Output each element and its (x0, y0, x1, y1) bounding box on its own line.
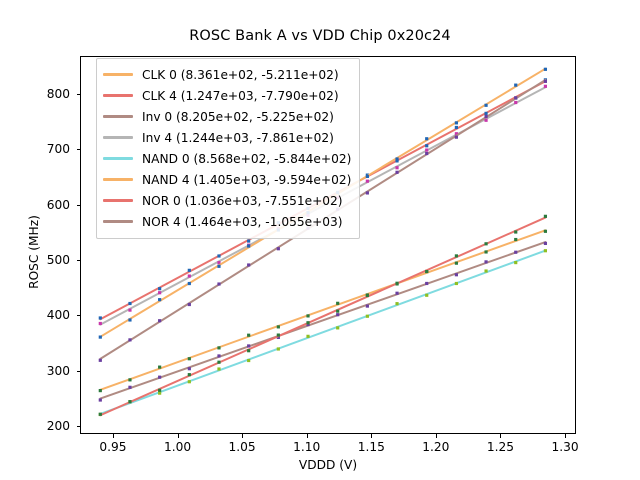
data-point (484, 260, 487, 263)
legend-color-swatch (103, 157, 133, 159)
legend-item: Inv 0 (8.205e+02, -5.225e+02) (103, 106, 351, 127)
legend-label: Inv 4 (1.244e+03, -7.861e+02) (142, 131, 334, 145)
x-tick-label: 1.30 (530, 440, 600, 454)
data-point (395, 166, 398, 169)
data-point (217, 265, 220, 268)
data-point (366, 175, 369, 178)
data-point (99, 359, 102, 362)
data-point (188, 269, 191, 272)
data-point (247, 239, 250, 242)
data-point (484, 119, 487, 122)
data-point (99, 322, 102, 325)
data-point (128, 378, 131, 381)
data-point (484, 242, 487, 245)
fit-line (100, 230, 545, 390)
x-tick-label: 1.25 (465, 440, 535, 454)
data-point (247, 263, 250, 266)
legend-color-swatch (103, 199, 133, 201)
data-point (158, 376, 161, 379)
legend-item: CLK 0 (8.361e+02, -5.211e+02) (103, 64, 351, 85)
data-point (217, 254, 220, 257)
data-point (188, 373, 191, 376)
x-tick-mark (565, 434, 566, 438)
data-point (128, 338, 131, 341)
data-point (217, 346, 220, 349)
data-point (188, 357, 191, 360)
data-point (158, 392, 161, 395)
data-point (99, 335, 102, 338)
data-point (455, 262, 458, 265)
x-tick-mark (178, 434, 179, 438)
x-tick-mark (242, 434, 243, 438)
data-point (366, 180, 369, 183)
x-tick-mark (113, 434, 114, 438)
data-point (247, 244, 250, 247)
data-point (455, 121, 458, 124)
data-point (514, 230, 517, 233)
data-point (188, 380, 191, 383)
series-inv-0 (99, 242, 547, 402)
data-point (217, 367, 220, 370)
data-point (544, 85, 547, 88)
data-point (128, 400, 131, 403)
fit-line (100, 251, 545, 414)
data-point (158, 287, 161, 290)
legend-color-swatch (103, 115, 133, 117)
data-point (188, 282, 191, 285)
legend-label: NAND 0 (8.568e+02, -5.844e+02) (142, 152, 351, 166)
x-tick-mark (371, 434, 372, 438)
data-point (425, 152, 428, 155)
legend-item: NOR 0 (1.036e+03, -7.551e+02) (103, 190, 351, 211)
data-point (247, 349, 250, 352)
data-point (425, 144, 428, 147)
fit-line (100, 242, 545, 399)
data-point (514, 84, 517, 87)
data-point (544, 249, 547, 252)
x-tick-label: 1.15 (336, 440, 406, 454)
data-point (514, 261, 517, 264)
data-point (366, 304, 369, 307)
data-point (99, 389, 102, 392)
data-point (514, 238, 517, 241)
x-tick-label: 1.20 (401, 440, 471, 454)
data-point (277, 347, 280, 350)
data-point (158, 298, 161, 301)
data-point (158, 389, 161, 392)
data-point (544, 68, 547, 71)
data-point (158, 319, 161, 322)
x-tick-mark (436, 434, 437, 438)
data-point (544, 230, 547, 233)
x-tick-label: 1.05 (207, 440, 277, 454)
x-tick-label: 1.00 (143, 440, 213, 454)
legend-item: CLK 4 (1.247e+03, -7.790e+02) (103, 85, 351, 106)
data-point (425, 148, 428, 151)
data-point (514, 96, 517, 99)
data-point (395, 292, 398, 295)
legend-item: NAND 4 (1.405e+03, -9.594e+02) (103, 169, 351, 190)
data-point (425, 282, 428, 285)
y-tick-label: 200 (8, 419, 70, 433)
legend-color-swatch (103, 178, 133, 180)
data-point (128, 302, 131, 305)
data-point (277, 247, 280, 250)
legend-item: NAND 0 (8.568e+02, -5.844e+02) (103, 148, 351, 169)
legend-color-swatch (103, 136, 133, 138)
data-point (247, 344, 250, 347)
data-point (425, 270, 428, 273)
series-nand-0 (99, 249, 547, 416)
data-point (455, 273, 458, 276)
legend-color-swatch (103, 94, 133, 96)
series-nor-0 (99, 215, 547, 416)
legend-item: NOR 4 (1.464e+03, -1.055e+03) (103, 211, 351, 232)
data-point (128, 386, 131, 389)
data-point (217, 282, 220, 285)
data-point (484, 250, 487, 253)
data-point (366, 315, 369, 318)
y-axis-label: ROSC (MHz) (27, 132, 41, 372)
data-point (99, 398, 102, 401)
x-tick-mark (500, 434, 501, 438)
chart-title: ROSC Bank A vs VDD Chip 0x20c24 (0, 28, 640, 44)
data-point (99, 413, 102, 416)
chart-figure: ROSC Bank A vs VDD Chip 0x20c24 20030040… (0, 0, 640, 480)
data-point (336, 302, 339, 305)
data-point (484, 115, 487, 118)
data-point (188, 303, 191, 306)
data-point (455, 136, 458, 139)
data-point (514, 101, 517, 104)
data-point (484, 112, 487, 115)
chart-legend: CLK 0 (8.361e+02, -5.211e+02)CLK 4 (1.24… (96, 58, 360, 239)
data-point (247, 334, 250, 337)
data-point (544, 215, 547, 218)
data-point (188, 367, 191, 370)
data-point (128, 309, 131, 312)
data-point (217, 354, 220, 357)
x-tick-label: 0.95 (78, 440, 148, 454)
x-tick-label: 1.10 (272, 440, 342, 454)
data-point (366, 191, 369, 194)
data-point (306, 314, 309, 317)
data-point (425, 137, 428, 140)
data-point (217, 361, 220, 364)
data-point (455, 254, 458, 257)
data-point (455, 282, 458, 285)
data-point (306, 321, 309, 324)
data-point (188, 274, 191, 277)
data-point (484, 104, 487, 107)
data-point (395, 302, 398, 305)
data-point (277, 333, 280, 336)
legend-label: NAND 4 (1.405e+03, -9.594e+02) (142, 173, 351, 187)
data-point (336, 313, 339, 316)
data-point (484, 269, 487, 272)
data-point (306, 335, 309, 338)
series-clk-0 (99, 230, 547, 392)
data-point (395, 157, 398, 160)
data-point (425, 294, 428, 297)
data-point (395, 282, 398, 285)
data-point (277, 325, 280, 328)
data-point (128, 318, 131, 321)
legend-label: CLK 4 (1.247e+03, -7.790e+02) (142, 89, 339, 103)
data-point (514, 251, 517, 254)
data-point (544, 242, 547, 245)
legend-color-swatch (103, 220, 133, 222)
data-point (336, 326, 339, 329)
data-point (544, 80, 547, 83)
data-point (158, 291, 161, 294)
legend-item: Inv 4 (1.244e+03, -7.861e+02) (103, 127, 351, 148)
legend-color-swatch (103, 73, 133, 75)
data-point (455, 126, 458, 129)
data-point (366, 294, 369, 297)
data-point (99, 316, 102, 319)
legend-label: Inv 0 (8.205e+02, -5.225e+02) (142, 110, 334, 124)
legend-label: NOR 4 (1.464e+03, -1.055e+03) (142, 215, 343, 229)
data-point (336, 310, 339, 313)
data-point (395, 171, 398, 174)
legend-label: NOR 0 (1.036e+03, -7.551e+02) (142, 194, 343, 208)
data-point (158, 366, 161, 369)
x-axis-label: VDDD (V) (80, 458, 576, 472)
x-tick-mark (307, 434, 308, 438)
data-point (247, 359, 250, 362)
y-tick-label: 800 (8, 87, 70, 101)
legend-label: CLK 0 (8.361e+02, -5.211e+02) (142, 68, 339, 82)
